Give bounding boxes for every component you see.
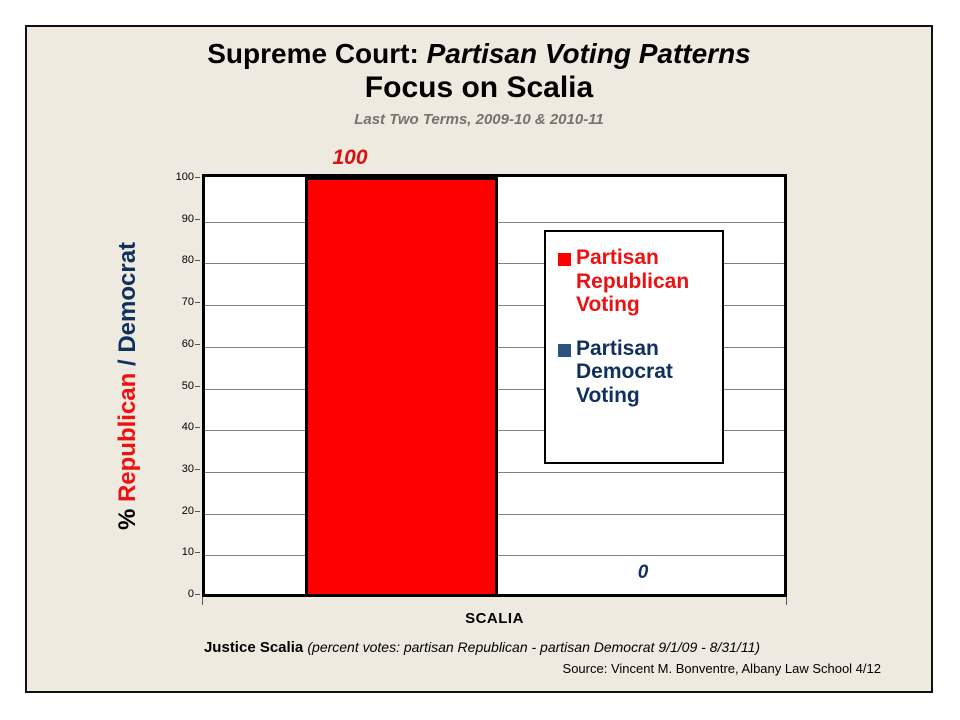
y-axis-tick-label: 50: [182, 380, 194, 392]
y-axis-title-text: % Republican / Democrat: [114, 241, 142, 529]
legend-label-democrat: Partisan Democrat Voting: [576, 337, 673, 408]
footer-caption-detail: (percent votes: partisan Republican - pa…: [307, 639, 760, 655]
bar-republican-scalia[interactable]: [305, 177, 498, 594]
footer-source: Source: Vincent M. Bonventre, Albany Law…: [67, 661, 897, 676]
y-axis-tick-mark: [195, 427, 200, 428]
y-axis-tick-mark: [195, 302, 200, 303]
chart-subtitle: Last Two Terms, 2009-10 & 2010-11: [27, 111, 931, 128]
y-axis-tick-mark: [195, 469, 200, 470]
y-axis-tick-mark: [195, 344, 200, 345]
y-axis-title-democrat: / Democrat: [114, 241, 141, 372]
chart-title-emphasis: Partisan Voting Patterns: [427, 38, 751, 69]
chart-title-line2: Focus on Scalia: [27, 71, 931, 106]
chart-title-prefix: Supreme Court:: [207, 38, 426, 69]
x-axis-ticks: [202, 597, 787, 605]
data-label-republican: 100: [202, 146, 498, 170]
y-axis-tick-mark: [195, 260, 200, 261]
y-axis: 0102030405060708090100: [167, 174, 200, 597]
footer-caption-subject: Justice Scalia: [204, 639, 307, 656]
legend-swatch-republican-icon: [558, 253, 571, 266]
legend-box: Partisan Republican Voting Partisan Demo…: [544, 230, 724, 464]
footer-caption: Justice Scalia (percent votes: partisan …: [67, 639, 897, 656]
y-axis-tick-label: 20: [182, 505, 194, 517]
chart-title-line1: Supreme Court: Partisan Voting Patterns: [27, 39, 931, 70]
y-axis-tick-label: 90: [182, 213, 194, 225]
slide-frame: Supreme Court: Partisan Voting Patterns …: [25, 25, 933, 693]
y-axis-tick-label: 0: [188, 588, 194, 600]
y-axis-tick-label: 70: [182, 296, 194, 308]
y-axis-tick-label: 10: [182, 546, 194, 558]
y-axis-tick-mark: [195, 177, 200, 178]
y-axis-tick-label: 80: [182, 254, 194, 266]
y-axis-tick-mark: [195, 511, 200, 512]
x-axis-tick-left: [202, 597, 203, 605]
y-axis-tick-mark: [195, 594, 200, 595]
y-axis-tick-mark: [195, 552, 200, 553]
y-axis-tick-mark: [195, 386, 200, 387]
footer: Justice Scalia (percent votes: partisan …: [67, 639, 897, 676]
data-label-democrat: 0: [498, 562, 788, 584]
legend-item-republican[interactable]: Partisan Republican Voting: [558, 246, 722, 317]
y-axis-title-percent: %: [114, 502, 141, 530]
y-axis-title-republican: Republican: [114, 372, 141, 501]
legend-label-republican: Partisan Republican Voting: [576, 246, 689, 317]
y-axis-title: % Republican / Democrat: [105, 174, 151, 597]
legend-item-democrat[interactable]: Partisan Democrat Voting: [558, 337, 722, 408]
y-axis-tick-label: 30: [182, 463, 194, 475]
x-axis-category-label: SCALIA: [202, 610, 787, 627]
x-axis-tick-right: [786, 597, 787, 605]
y-axis-tick-label: 40: [182, 421, 194, 433]
y-axis-tick-label: 100: [176, 171, 194, 183]
y-axis-tick-mark: [195, 219, 200, 220]
legend-swatch-democrat-icon: [558, 344, 571, 357]
y-axis-tick-label: 60: [182, 338, 194, 350]
title-block: Supreme Court: Partisan Voting Patterns …: [27, 39, 931, 128]
